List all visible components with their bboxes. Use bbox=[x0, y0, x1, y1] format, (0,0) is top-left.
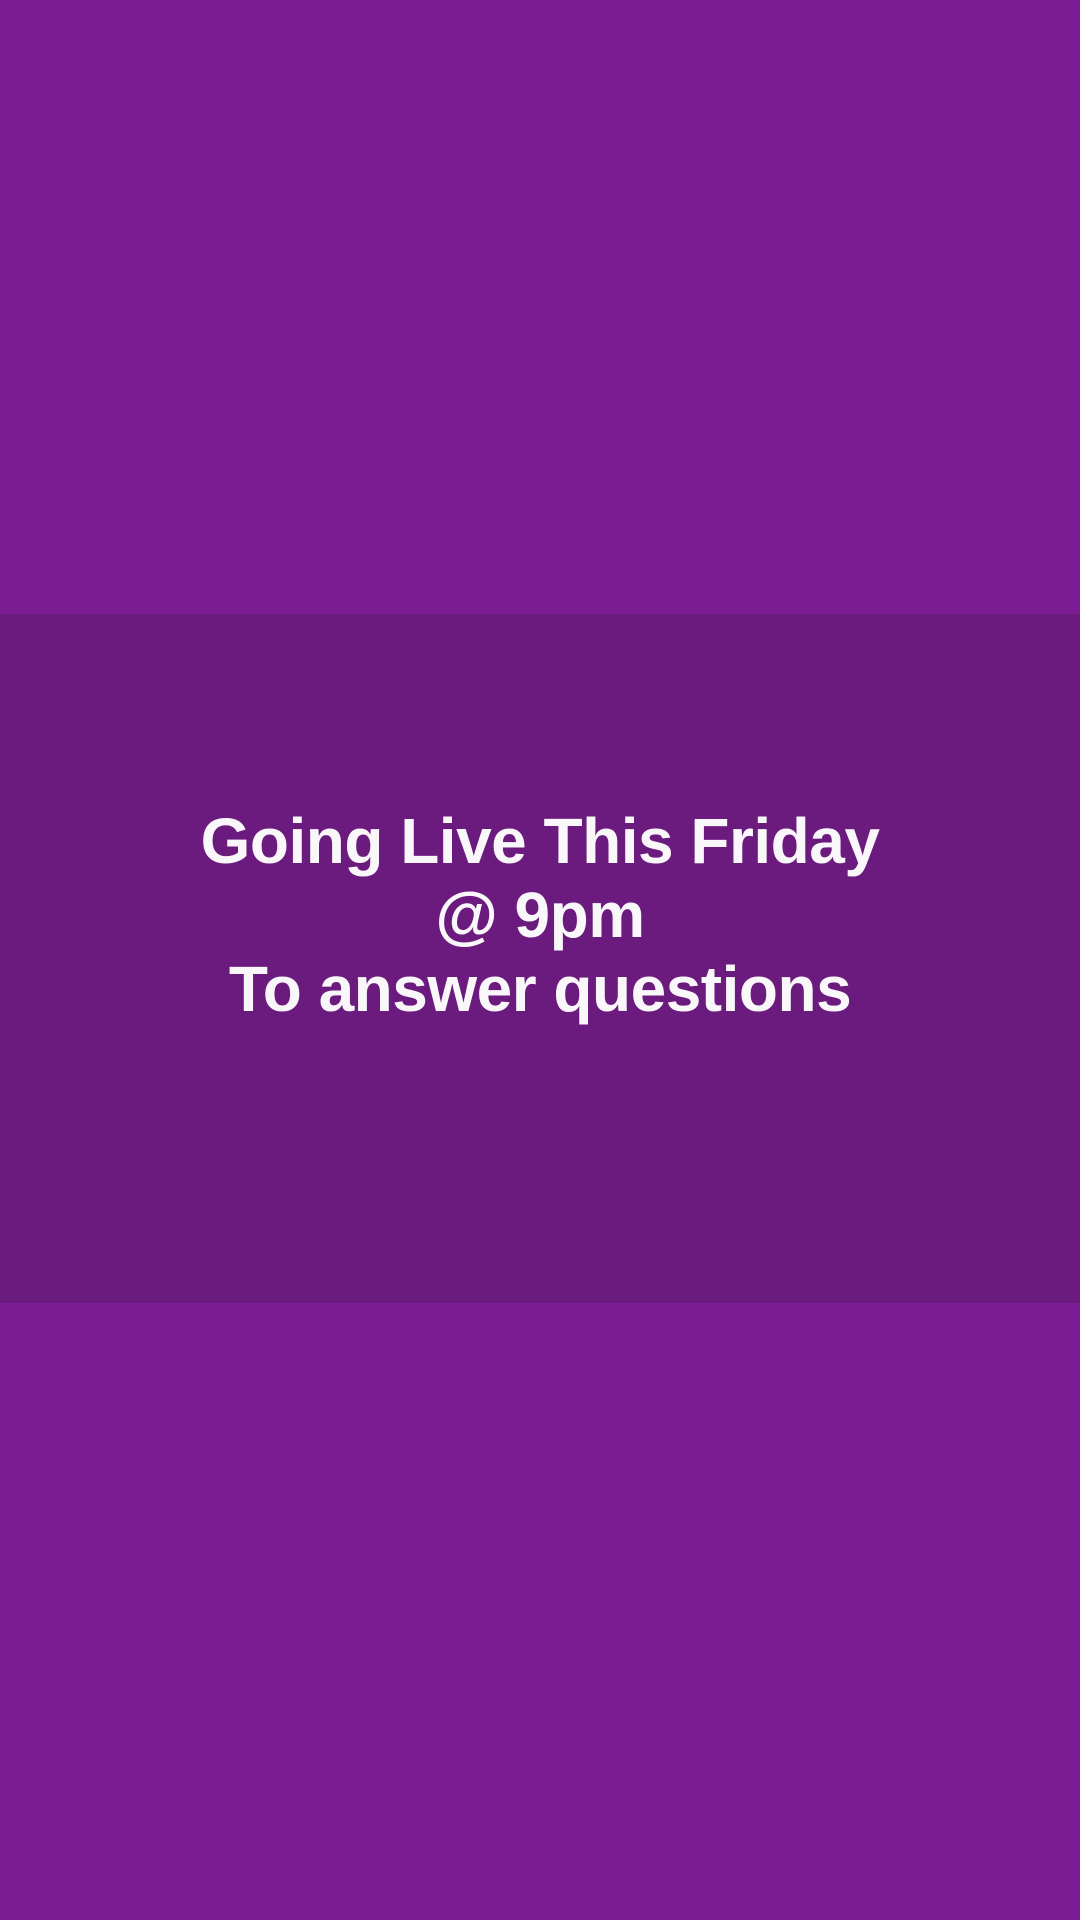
announcement-line-2: @ 9pm bbox=[0, 878, 1080, 952]
story-card: Going Live This Friday @ 9pm To answer q… bbox=[0, 0, 1080, 1920]
background-band-bottom bbox=[0, 1303, 1080, 1920]
announcement-panel: Going Live This Friday @ 9pm To answer q… bbox=[0, 614, 1080, 1303]
announcement-line-3: To answer questions bbox=[0, 952, 1080, 1026]
announcement-line-1: Going Live This Friday bbox=[0, 804, 1080, 878]
announcement-message: Going Live This Friday @ 9pm To answer q… bbox=[0, 804, 1080, 1026]
background-band-top bbox=[0, 0, 1080, 614]
